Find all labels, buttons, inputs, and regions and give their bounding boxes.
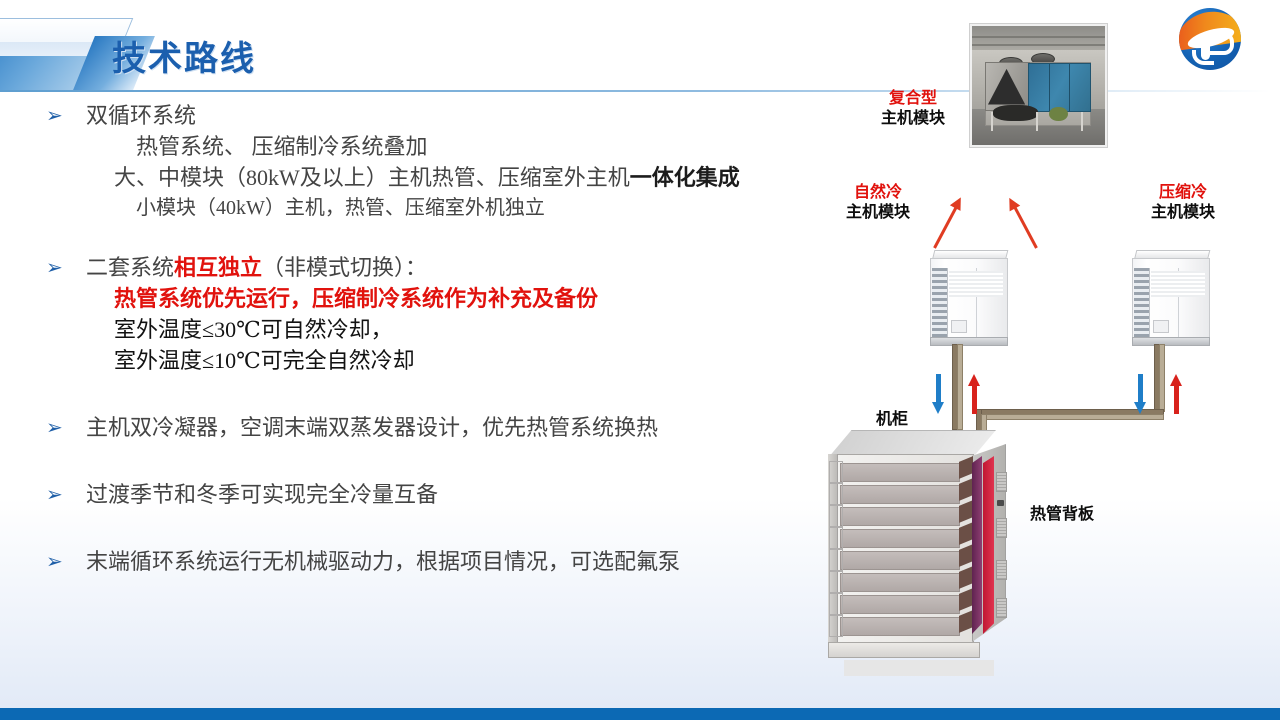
footer-bar [0,708,1280,720]
spacer [46,510,846,546]
bullet-marker-icon: ➢ [46,412,86,443]
bullet-item: ➢双循环系统热管系统、 压缩制冷系统叠加大、中模块（80kW及以上）主机热管、压… [46,100,846,224]
server-shelf [840,617,960,636]
label-natural-line2: 主机模块 [830,202,926,222]
pipe-left-vertical-b [957,344,963,430]
label-cabinet: 机柜 [876,405,936,429]
label-compression-line2: 主机模块 [1135,202,1231,222]
photo-beam [972,44,1105,46]
unit-base [1132,337,1210,346]
photo-panel-seam [1049,64,1050,112]
text-run: 大、中模块（80kW及以上）主机热管、压缩室外主机 [114,165,630,190]
unit-coil-grille [932,268,948,338]
server-shelf [840,551,960,570]
bullet-text: 主机双冷凝器，空调末端双蒸发器设计，优先热管系统换热 [86,412,846,443]
text-run: 双循环系统 [86,103,196,128]
bullet-item: ➢主机双冷凝器，空调末端双蒸发器设计，优先热管系统换热 [46,412,846,443]
arrow-head [1170,374,1182,386]
arrow-head [968,374,980,386]
text-run: 二套系统 [86,255,174,280]
text-run: 末端循环系统运行无机械驱动力，根据项目情况，可选配氟泵 [86,549,680,574]
bullet-line: 二套系统相互独立（非模式切换）： [86,252,846,283]
text-run: 主机双冷凝器，空调末端双蒸发器设计，优先热管系统换热 [86,415,658,440]
photo-leg [1036,112,1038,131]
page-title: 技术路线 [112,31,256,80]
text-run: 室外温度≤30℃可自然冷却， [114,317,393,342]
chiller-photo [970,24,1107,147]
arrow-return-up-left-icon [972,374,977,414]
cabinet-vent [996,472,1007,492]
photo-leg [991,112,993,131]
bullet-text: 末端循环系统运行无机械驱动力，根据项目情况，可选配氟泵 [86,546,846,577]
cabinet-shadow [844,660,994,676]
bullet-line: 主机双冷凝器，空调末端双蒸发器设计，优先热管系统换热 [86,412,846,443]
text-run: 小模块（40kW）主机，热管、压缩室外机独立 [136,197,545,219]
unit-control-box [1153,320,1169,333]
spacer [46,376,846,412]
arrow-shaft [1138,374,1143,402]
arrow-compression-to-composite-icon [1013,205,1038,249]
unit-louvers [1151,271,1205,297]
photo-tank [993,105,1038,122]
server-shelf [840,573,960,592]
bullet-line: 室外温度≤30℃可自然冷却， [86,314,846,345]
bullet-item: ➢二套系统相互独立（非模式切换）：热管系统优先运行，压缩制冷系统作为补充及备份室… [46,252,846,376]
cabinet-knob [997,500,1004,506]
bullet-item: ➢过渡季节和冬季可实现完全冷量互备 [46,479,846,510]
company-logo-icon [1179,8,1241,70]
bullet-marker-icon: ➢ [46,252,86,283]
bullet-marker-icon: ➢ [46,546,86,577]
heatpipe-backplate-purple [972,456,982,634]
outdoor-unit-compression [1132,250,1208,346]
spacer [46,224,846,252]
bullet-line: 双循环系统 [86,100,846,131]
bullet-marker-icon: ➢ [46,100,86,131]
arrow-return-up-right-icon [1174,374,1179,414]
arrow-head [1134,402,1146,414]
heatpipe-backplate-red [983,456,994,634]
text-run: 热管系统优先运行，压缩制冷系统作为补充及备份 [114,286,598,311]
photo-panel-seam [1069,64,1070,112]
pipe-horizontal-b [976,414,1164,420]
bullet-text: 双循环系统热管系统、 压缩制冷系统叠加大、中模块（80kW及以上）主机热管、压缩… [86,100,846,224]
server-shelf [840,507,960,526]
arrow-shaft [936,374,941,402]
system-diagram: 复合型 主机模块 自然冷 主机模块 压缩冷 主机模块 [790,0,1280,706]
unit-body [930,258,1008,342]
text-run: 热管系统、 压缩制冷系统叠加 [136,134,428,159]
arrow-shaft [1174,386,1179,414]
pipe-right-vertical-b [1159,344,1165,412]
label-natural-line1: 自然冷 [830,182,926,202]
bullet-line: 大、中模块（80kW及以上）主机热管、压缩室外主机一体化集成 [86,162,846,193]
unit-louvers [949,271,1003,297]
server-shelf [840,463,960,482]
unit-coil-grille [1134,268,1150,338]
server-shelf [840,595,960,614]
bullet-line: 热管系统、 压缩制冷系统叠加 [86,131,846,162]
unit-control-box [951,320,967,333]
bullet-item: ➢末端循环系统运行无机械驱动力，根据项目情况，可选配氟泵 [46,546,846,577]
label-natural-cooling-module: 自然冷 主机模块 [830,182,926,222]
text-run: 过渡季节和冬季可实现完全冷量互备 [86,482,438,507]
photo-compressor [1049,107,1068,121]
label-compression-cooling-module: 压缩冷 主机模块 [1135,182,1231,222]
bullet-text: 二套系统相互独立（非模式切换）：热管系统优先运行，压缩制冷系统作为补充及备份室外… [86,252,846,376]
server-shelf [840,485,960,504]
unit-body [1132,258,1210,342]
text-run: 室外温度≤10℃可完全自然冷却 [114,348,415,373]
bullet-text: 过渡季节和冬季可实现完全冷量互备 [86,479,846,510]
text-run: （非模式切换）： [262,255,427,280]
bullet-line: 末端循环系统运行无机械驱动力，根据项目情况，可选配氟泵 [86,546,846,577]
cabinet-plinth [828,642,980,658]
bullet-line: 热管系统优先运行，压缩制冷系统作为补充及备份 [86,283,846,314]
outdoor-unit-natural [930,250,1006,346]
text-run: 相互独立 [174,255,262,280]
spacer [46,443,846,479]
photo-leg [1081,112,1083,131]
bullet-line: 小模块（40kW）主机，热管、压缩室外机独立 [86,193,846,224]
cabinet-vent [996,560,1007,580]
bullet-list: ➢双循环系统热管系统、 压缩制冷系统叠加大、中模块（80kW及以上）主机热管、压… [46,100,846,577]
cabinet-vent [996,518,1007,538]
bullet-marker-icon: ➢ [46,479,86,510]
slide-canvas: 技术路线 ➢双循环系统热管系统、 压缩制冷系统叠加大、中模块（80kW及以上）主… [0,0,1280,720]
photo-beam [972,36,1105,38]
bullet-line: 过渡季节和冬季可实现完全冷量互备 [86,479,846,510]
server-shelf [840,529,960,548]
bullet-line: 室外温度≤10℃可完全自然冷却 [86,345,846,376]
arrow-shaft [972,386,977,414]
unit-base [930,337,1008,346]
cabinet-vent [996,598,1007,618]
label-composite-line1: 复合型 [868,88,958,108]
photo-blue-panels [1028,63,1091,113]
server-cabinet [820,430,1040,670]
text-run: 一体化集成 [630,165,740,190]
arrow-natural-to-composite-icon [933,205,958,249]
label-composite-line2: 主机模块 [868,108,958,128]
logo-j-hook [1192,50,1214,65]
label-heatpipe-backplate: 热管背板 [1030,500,1140,524]
label-composite-module: 复合型 主机模块 [868,88,958,128]
label-compression-line1: 压缩冷 [1135,182,1231,202]
